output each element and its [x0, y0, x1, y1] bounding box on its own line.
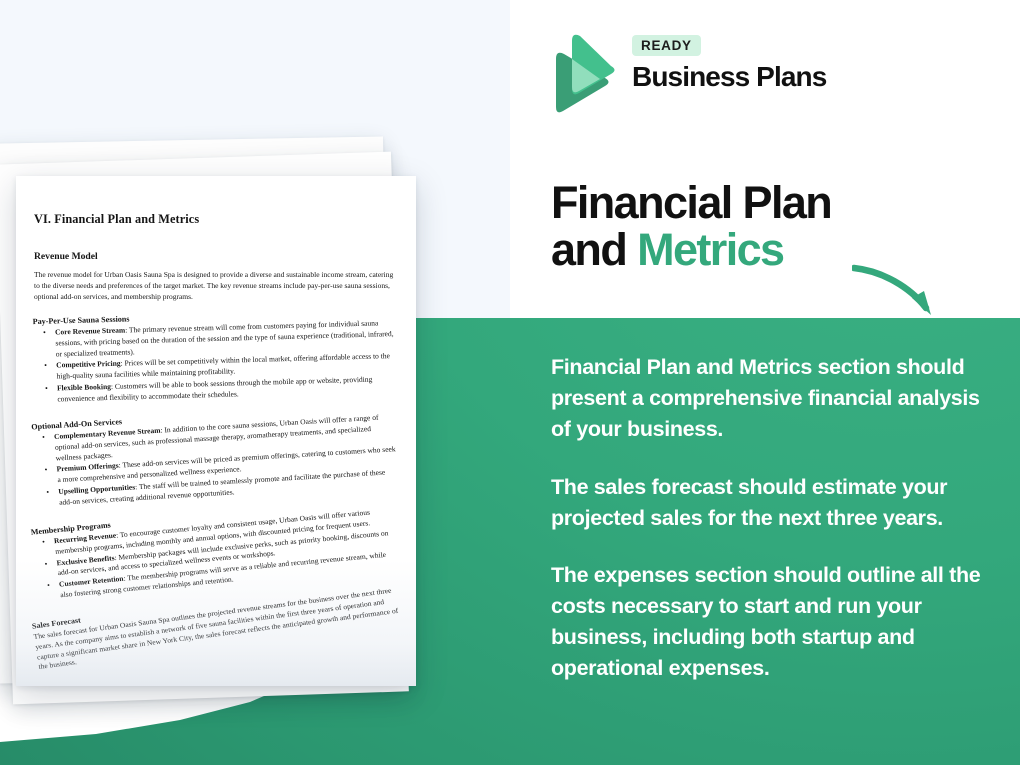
double-play-triangle-logo-icon	[550, 33, 616, 115]
curved-arrow-down-right-icon	[852, 258, 962, 330]
document-section-heading: Revenue Model	[34, 251, 398, 262]
page-title-line1: Financial Plan	[551, 177, 831, 228]
body-paragraph-2: The sales forecast should estimate your …	[551, 472, 993, 534]
brand-name: Business Plans	[632, 61, 826, 93]
document-intro-paragraph: The revenue model for Urban Oasis Sauna …	[34, 270, 398, 302]
page-title-accent: Metrics	[637, 224, 783, 275]
document-page-surface: VI. Financial Plan and Metrics Revenue M…	[16, 176, 416, 686]
list-item-label: Core Revenue Stream	[55, 326, 125, 337]
body-copy: Financial Plan and Metrics section shoul…	[551, 352, 993, 685]
document-content: VI. Financial Plan and Metrics Revenue M…	[16, 176, 416, 686]
brand-logo[interactable]: READY Business Plans	[550, 33, 950, 115]
list-item-label: Competitive Pricing	[56, 359, 121, 370]
document-bullet-list: Core Revenue Stream: The primary revenue…	[33, 318, 400, 406]
document-page-main[interactable]: VI. Financial Plan and Metrics Revenue M…	[16, 176, 416, 686]
ready-badge: READY	[632, 35, 701, 56]
body-paragraph-3: The expenses section should outline all …	[551, 560, 993, 685]
document-title: VI. Financial Plan and Metrics	[34, 212, 398, 227]
slide-canvas: VI. Financial Plan and Metrics Revenue M…	[0, 0, 1020, 765]
brand-wordmark: READY Business Plans	[632, 35, 826, 93]
body-paragraph-1: Financial Plan and Metrics section shoul…	[551, 352, 993, 446]
list-item-label: Flexible Booking	[57, 382, 111, 393]
page-title-line2-prefix: and	[551, 224, 637, 275]
